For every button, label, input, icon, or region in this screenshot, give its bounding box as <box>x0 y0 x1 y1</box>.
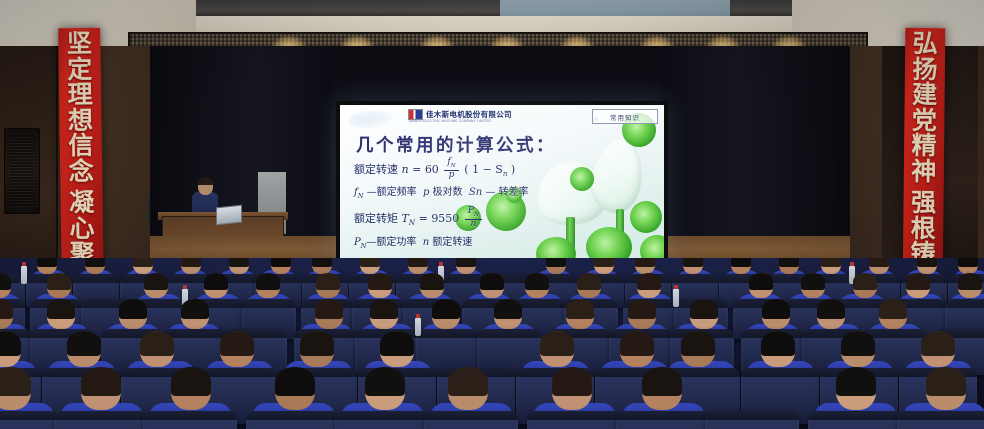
audience-member-hair <box>879 299 907 319</box>
audience-member-hair <box>762 299 790 319</box>
legend-3-text: — 转差率 <box>485 187 528 198</box>
audience-member-hair <box>380 331 414 356</box>
auditorium-seat[interactable] <box>246 411 340 429</box>
audience-member-hair <box>81 367 121 396</box>
formula-row-2-legend: fN —额定频率 p 极对数 Sn — 转差率 <box>354 183 529 200</box>
audience-member-hair <box>85 258 105 267</box>
auditorium-seat[interactable] <box>616 411 710 429</box>
formula-1-denominator: p <box>444 171 458 180</box>
banner-char: 信 <box>60 134 102 160</box>
company-name-en: JIAMUSI ELECTRIC MACHINE COMPANY LIMITED <box>408 119 491 123</box>
formula-1-eq: = <box>412 163 421 176</box>
audience-member-hair <box>628 299 656 319</box>
corner-tag-label: 常用知识 <box>610 112 640 122</box>
microphone-stand <box>148 196 150 226</box>
chrysanthemum-5 <box>630 201 662 233</box>
audience-member-hair <box>637 273 661 290</box>
audience-member-hair <box>577 273 601 290</box>
auditorium-seat[interactable] <box>705 411 799 429</box>
audience-member-hair <box>220 331 254 356</box>
legend-4-text: —额定功率 <box>366 237 416 248</box>
ceiling-skylight <box>500 0 730 16</box>
formula-1-numerator: fN <box>444 158 458 171</box>
audience-member-hair <box>566 299 594 319</box>
audience-member-hair <box>801 273 825 290</box>
audience-member-hair <box>229 258 249 267</box>
audience-area <box>0 258 984 429</box>
audience-member-hair <box>821 258 841 267</box>
slide-watermark <box>347 108 395 131</box>
audience-member-hair <box>779 258 799 267</box>
audience-member-hair <box>635 258 655 267</box>
audience-member-hair <box>312 258 332 267</box>
audience-member-hair <box>681 331 715 356</box>
ceiling-strip-lower <box>196 16 792 32</box>
presenter-head <box>198 178 213 195</box>
legend-2-text: 极对数 <box>433 187 463 198</box>
audience-member-hair <box>365 367 405 396</box>
auditorium-seat[interactable] <box>54 411 148 429</box>
banner-char: 强 <box>903 191 943 217</box>
formula-row-3: 额定转矩 TN = 9550 PN n <box>354 208 484 230</box>
audience-member-hair <box>540 331 574 356</box>
audience-member-hair <box>620 331 654 356</box>
audience-member-hair <box>869 258 889 267</box>
banner-char: 根 <box>903 216 943 242</box>
audience-member-hair <box>256 273 280 290</box>
audience-member-hair <box>853 273 877 290</box>
banner-char: 神 <box>904 159 944 185</box>
audience-member-hair <box>642 367 682 396</box>
water-bottle <box>673 289 679 307</box>
formula-3-eq: = <box>419 212 428 225</box>
audience-member-hair <box>37 258 57 267</box>
audience-member-hair <box>275 367 315 396</box>
audience-member-hair <box>926 367 966 396</box>
laptop-icon <box>216 205 242 226</box>
audience-member-hair <box>171 367 211 396</box>
banner-char: 坚 <box>58 32 100 58</box>
water-bottle <box>21 266 27 284</box>
audience-member-hair <box>958 258 978 267</box>
audience-member-hair <box>315 299 343 319</box>
audience-member-hair <box>836 367 876 396</box>
auditorium-seat[interactable] <box>335 411 429 429</box>
chrysanthemum-2 <box>570 167 594 191</box>
banner-char: 弘 <box>905 32 945 58</box>
audience-member-hair <box>408 258 428 267</box>
auditorium-scene: 佳木斯电机股份有限公司 JIAMUSI ELECTRIC MACHINE COM… <box>0 0 984 429</box>
legend-3-sym: Sn <box>469 187 482 198</box>
audience-member-hair <box>119 299 147 319</box>
audience-member-hair <box>204 273 228 290</box>
audience-member-hair <box>144 273 168 290</box>
banner-char: 念 <box>60 159 102 185</box>
legend-4-sym: P <box>354 237 361 248</box>
auditorium-seat[interactable] <box>0 411 59 429</box>
audience-member-hair <box>917 258 937 267</box>
banner-char: 精 <box>904 134 944 160</box>
audience-member-hair <box>761 331 795 356</box>
banner-char: 理 <box>59 83 101 109</box>
legend-5-sym: n <box>423 237 429 248</box>
auditorium-seat[interactable] <box>424 411 518 429</box>
formula-row-1: 额定转速 n = 60 fN p ( 1 − Sn ) <box>354 159 515 181</box>
formula-1-label: 额定转速 <box>354 163 398 176</box>
formula-1-tail-end: ) <box>507 163 515 176</box>
audience-member-hair <box>817 299 845 319</box>
formula-3-coef: 9550 <box>431 212 459 225</box>
formula-3-var: T <box>402 212 409 225</box>
audience-member-hair <box>683 258 703 267</box>
formula-3-fraction: PN n <box>465 207 482 229</box>
banner-char: 心 <box>61 216 103 242</box>
audience-member-hair <box>140 331 174 356</box>
audience-member-hair <box>841 331 875 356</box>
banner-char: 建 <box>905 83 945 109</box>
water-bottle <box>415 318 421 336</box>
formula-row-4-legend: PN—额定功率 n 额定转速 <box>354 233 472 250</box>
audience-member-hair <box>300 331 334 356</box>
audience-member-hair <box>271 258 291 267</box>
audience-member-hair <box>0 367 31 396</box>
banner-char: 定 <box>59 57 101 83</box>
banner-char: 想 <box>59 108 101 134</box>
audience-member-hair <box>370 299 398 319</box>
audience-member-hair <box>181 299 209 319</box>
auditorium-seat[interactable] <box>143 411 237 429</box>
audience-member-hair <box>494 299 522 319</box>
audience-member-hair <box>456 258 476 267</box>
auditorium-seat[interactable] <box>897 411 984 429</box>
formula-3-numerator: PN <box>465 207 482 220</box>
audience-member-hair <box>546 258 566 267</box>
audience-member-hair <box>525 273 549 290</box>
audience-member-hair <box>480 273 504 290</box>
audience-member-hair <box>360 258 380 267</box>
formula-1-tail: ( 1 − S <box>464 163 503 176</box>
auditorium-seat[interactable] <box>527 411 621 429</box>
audience-member-hair <box>594 258 614 267</box>
wall-speaker <box>4 128 40 214</box>
audience-member-hair <box>368 273 392 290</box>
slide-title: 几个常用的计算公式： <box>356 132 556 157</box>
audience-member-hair <box>921 331 955 356</box>
audience-member-hair <box>731 258 751 267</box>
corner-tag-box: 常用知识 <box>592 109 658 124</box>
audience-member-hair <box>906 273 930 290</box>
audience-member-hair <box>420 273 444 290</box>
formula-3-label: 额定转矩 <box>354 212 398 225</box>
formula-3-denominator: n <box>465 220 482 229</box>
audience-member-hair <box>552 367 592 396</box>
audience-member-hair <box>958 273 982 290</box>
audience-member-hair <box>432 299 460 319</box>
audience-member-hair <box>67 331 101 356</box>
audience-member-hair <box>181 258 201 267</box>
audience-member-hair <box>448 367 488 396</box>
auditorium-seat[interactable] <box>808 411 902 429</box>
banner-char: 扬 <box>905 57 945 83</box>
audience-member-hair <box>690 299 718 319</box>
formula-1-coef: 60 <box>425 163 439 176</box>
audience-member-hair <box>133 258 153 267</box>
projection-screen[interactable]: 佳木斯电机股份有限公司 JIAMUSI ELECTRIC MACHINE COM… <box>340 105 664 263</box>
formula-1-fraction: fN p <box>444 158 458 180</box>
legend-5-text: 额定转速 <box>432 237 472 248</box>
audience-member-hair <box>749 273 773 290</box>
legend-1-text: —额定频率 <box>367 187 417 198</box>
legend-2-sym: p <box>423 187 429 198</box>
audience-member-hair <box>47 273 71 290</box>
audience-member-hair <box>47 299 75 319</box>
banner-char: 凝 <box>60 191 102 217</box>
audience-member-hair <box>316 273 340 290</box>
banner-left: 坚定理想信念 凝心聚力开创新局 <box>58 28 104 285</box>
formula-1-var: n <box>402 163 409 176</box>
banner-char: 党 <box>904 108 944 134</box>
banner-right: 弘扬建党精神 强根铸魂奋进新征程 <box>903 28 946 290</box>
